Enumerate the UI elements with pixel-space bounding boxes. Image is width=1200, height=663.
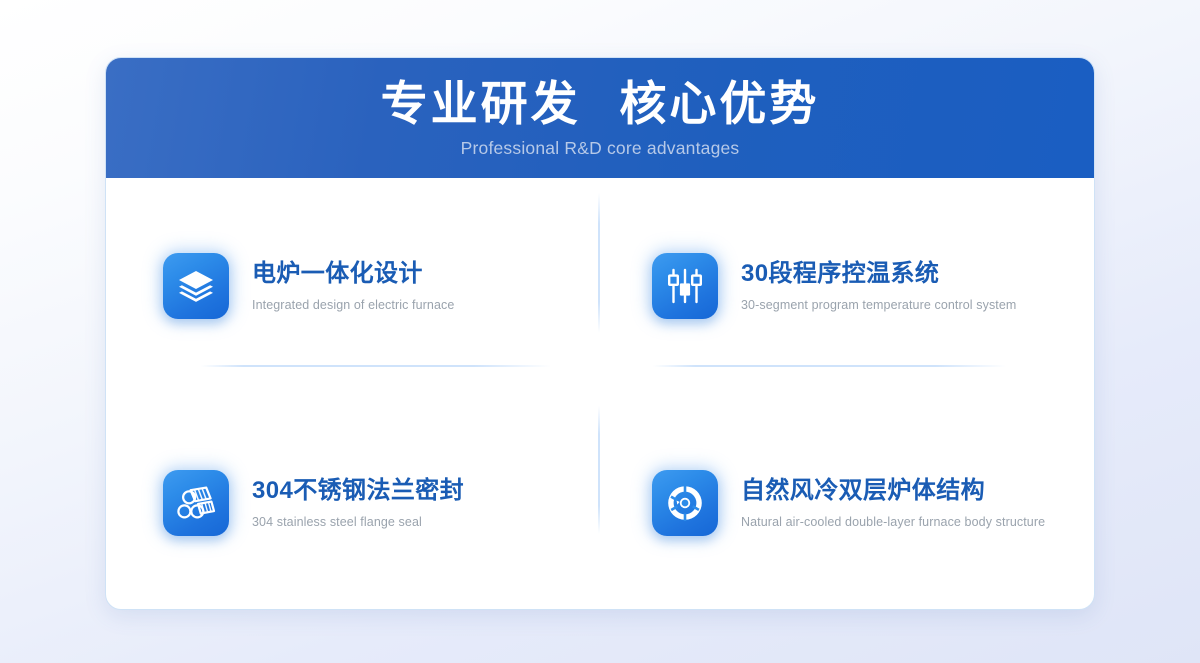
feature-title-1: 电炉一体化设计 [252,260,454,289]
feature-text-3: 304不锈钢法兰密封 304 stainless steel flange se… [252,477,464,529]
feature-item-2[interactable]: 30段程序控温系统 30-segment program temperature… [600,178,1094,395]
feature-subtitle-1: Integrated design of electric furnace [252,298,454,312]
feature-text-4: 自然风冷双层炉体结构 Natural air-cooled double-lay… [741,477,1045,529]
feature-title-4: 自然风冷双层炉体结构 [741,477,1045,506]
advantages-card: 专业研发 核心优势 Professional R&D core advantag… [105,57,1095,610]
feature-subtitle-3: 304 stainless steel flange seal [252,515,464,529]
feature-title-3: 304不锈钢法兰密封 [252,477,464,506]
feature-item-1[interactable]: 电炉一体化设计 Integrated design of electric fu… [106,178,600,395]
layers-icon [163,253,229,319]
page-title: 专业研发 核心优势 [106,76,1094,133]
feature-title-2: 30段程序控温系统 [741,260,1016,289]
feature-item-3[interactable]: 304不锈钢法兰密封 304 stainless steel flange se… [106,395,600,611]
sliders-icon [652,253,718,319]
feature-text-1: 电炉一体化设计 Integrated design of electric fu… [252,260,454,312]
features-body: 电炉一体化设计 Integrated design of electric fu… [106,178,1094,610]
feature-subtitle-2: 30-segment program temperature control s… [741,298,1016,312]
features-grid: 电炉一体化设计 Integrated design of electric fu… [106,178,1094,610]
page-subtitle: Professional R&D core advantages [106,138,1094,159]
air-cooling-fan-icon [652,470,718,536]
feature-subtitle-4: Natural air-cooled double-layer furnace … [741,515,1045,529]
card-header: 专业研发 核心优势 Professional R&D core advantag… [106,58,1094,178]
steel-pipes-icon [163,470,229,536]
page-root: 专业研发 核心优势 Professional R&D core advantag… [0,0,1200,663]
feature-text-2: 30段程序控温系统 30-segment program temperature… [741,260,1016,312]
feature-item-4[interactable]: 自然风冷双层炉体结构 Natural air-cooled double-lay… [600,395,1094,611]
